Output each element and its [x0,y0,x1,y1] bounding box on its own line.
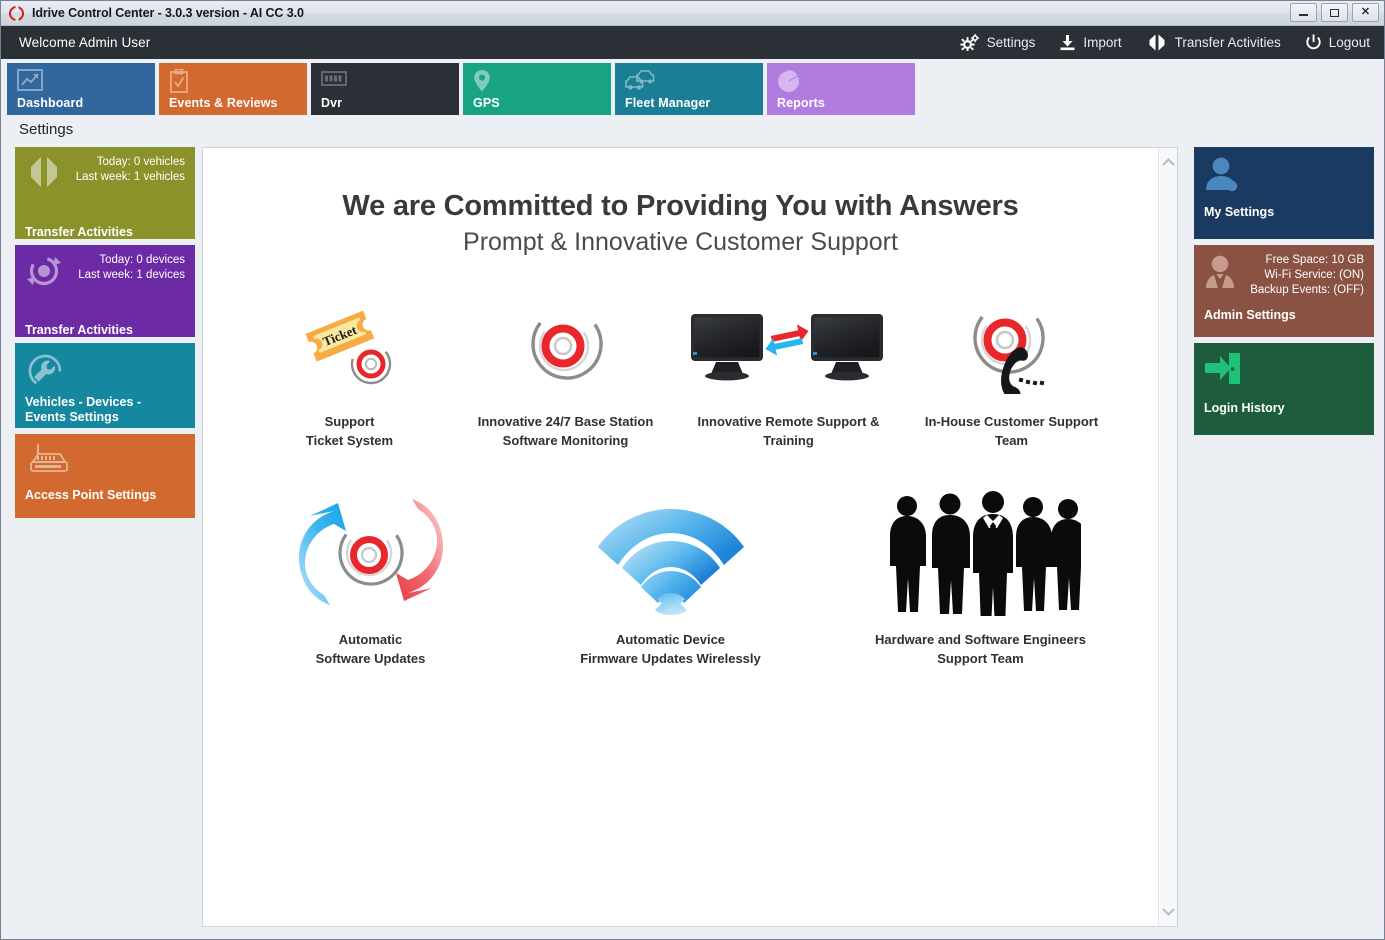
toolbar-import-button[interactable]: Import [1059,34,1121,51]
target-refresh-arrows-icon [276,488,466,618]
tile-label: My Settings [1204,205,1364,220]
tab-fleet-manager-label: Fleet Manager [625,96,710,110]
tab-fleet-manager[interactable]: Fleet Manager [615,63,763,115]
target-logo-icon [9,6,24,21]
map-pin-icon [473,69,491,98]
tile-label: Access Point Settings [25,488,185,503]
page-title: Settings [19,121,73,138]
tile-label: Login History [1204,401,1364,416]
top-toolbar: Welcome Admin User [1,26,1384,59]
tile-vehicles-devices-events-settings[interactable]: Vehicles - Devices - Events Settings [15,343,195,428]
subheadline: Prompt & Innovative Customer Support [203,226,1158,258]
pie-chart-icon [777,69,801,98]
tile-stats: Today: 0 devices Last week: 1 devices [25,253,185,283]
toolbar-transfer-activities-button[interactable]: Transfer Activities [1146,34,1281,51]
power-icon [1305,34,1322,51]
tab-reports-label: Reports [777,96,825,110]
close-button[interactable]: ✕ [1352,3,1379,22]
dvr-icon [321,69,347,94]
gears-icon [960,34,980,51]
tile-stats: Today: 0 vehicles Last week: 1 vehicles [25,155,185,185]
tile-stat-line: Last week: 1 vehicles [25,170,185,185]
tile-stats: Free Space: 10 GB Wi-Fi Service: (ON) Ba… [1204,253,1364,298]
tile-stat-line: Today: 0 devices [25,253,185,268]
tab-dvr[interactable]: Dvr [311,63,459,115]
tile-access-point-settings[interactable]: Access Point Settings [15,434,195,518]
feature-row-2: Automatic Software Updates [203,488,1158,668]
router-icon [25,442,71,483]
toolbar-transfer-activities-label: Transfer Activities [1175,35,1281,50]
tab-events-reviews[interactable]: Events & Reviews [159,63,307,115]
tile-stat-line: Backup Events: (OFF) [1204,283,1364,298]
toolbar-logout-button[interactable]: Logout [1305,34,1370,51]
wifi-signal-icon [596,488,746,618]
tile-admin-settings[interactable]: Free Space: 10 GB Wi-Fi Service: (ON) Ba… [1194,245,1374,337]
tile-stat-line: Last week: 1 devices [25,268,185,283]
feature-caption: In-House Customer Support Team [925,412,1098,450]
window-controls: ✕ [1290,3,1379,22]
feature-in-house-support-team[interactable]: In-House Customer Support Team [904,288,1120,450]
feature-hardware-software-engineers[interactable]: Hardware and Software Engineers Support … [821,488,1141,668]
tile-my-settings[interactable]: My Settings [1194,147,1374,239]
maximize-button[interactable] [1321,3,1348,22]
scroll-down-arrow-icon[interactable] [1159,904,1177,920]
feature-caption: Innovative 24/7 Base Station Software Mo… [478,412,654,450]
tile-transfer-activities-devices[interactable]: Today: 0 devices Last week: 1 devices Tr… [15,245,195,337]
tile-login-history[interactable]: Login History [1194,343,1374,435]
headline: We are Committed to Providing You with A… [203,188,1158,224]
tile-stat-line: Today: 0 vehicles [25,155,185,170]
transfer-arrows-icon [1146,34,1168,51]
welcome-message: Welcome Admin User [19,35,960,50]
feature-caption: Automatic Software Updates [316,630,426,668]
feature-base-station-monitoring[interactable]: Innovative 24/7 Base Station Software Mo… [458,288,674,450]
content-area: Today: 0 vehicles Last week: 1 vehicles … [1,147,1384,927]
scroll-up-arrow-icon[interactable] [1159,154,1177,170]
feature-caption: Hardware and Software Engineers Support … [875,630,1086,668]
feature-support-ticket-system[interactable]: Ticket Support Ticket System [242,288,458,450]
support-overview: We are Committed to Providing You with A… [203,148,1158,926]
main-vertical-scrollbar[interactable] [1158,148,1177,926]
tab-dvr-label: Dvr [321,96,342,110]
toolbar-actions: Settings Import [960,34,1370,51]
page-header: Settings [1,117,1384,147]
left-sidebar: Today: 0 vehicles Last week: 1 vehicles … [15,147,195,927]
download-icon [1059,34,1076,51]
support-ticket-icon: Ticket [297,288,402,400]
target-phone-icon [959,288,1064,400]
status-bar [1,931,1384,939]
tab-dashboard[interactable]: Dashboard [7,63,155,115]
feature-row-1: Ticket Support Ticket System [203,288,1158,450]
feature-caption: Support Ticket System [306,412,393,450]
login-exit-icon [1204,351,1242,392]
tab-gps-label: GPS [473,96,500,110]
window-title: Idrive Control Center - 3.0.3 version - … [32,6,304,20]
toolbar-settings-label: Settings [987,35,1036,50]
feature-caption: Innovative Remote Support & Training [697,412,879,450]
feature-automatic-software-updates[interactable]: Automatic Software Updates [221,488,521,668]
tab-gps[interactable]: GPS [463,63,611,115]
target-ring-icon [520,288,612,400]
main-content-panel: We are Committed to Providing You with A… [202,147,1178,927]
tile-stat-line: Wi-Fi Service: (ON) [1204,268,1364,283]
tile-label: Admin Settings [1204,308,1364,323]
toolbar-import-label: Import [1083,35,1121,50]
two-monitors-transfer-icon [689,288,889,400]
tile-label: Transfer Activities [25,225,185,239]
right-sidebar: My Settings Free Space: 10 GB Wi-Fi Serv… [1194,147,1374,927]
tile-label: Vehicles - Devices - Events Settings [25,395,185,425]
toolbar-settings-button[interactable]: Settings [960,34,1036,51]
tile-transfer-activities-vehicles[interactable]: Today: 0 vehicles Last week: 1 vehicles … [15,147,195,239]
feature-automatic-firmware-updates[interactable]: Automatic Device Firmware Updates Wirele… [521,488,821,668]
tab-reports[interactable]: Reports [767,63,915,115]
toolbar-logout-label: Logout [1329,35,1370,50]
team-silhouettes-icon [881,488,1081,618]
vehicles-icon [625,69,655,96]
feature-caption: Automatic Device Firmware Updates Wirele… [580,630,761,668]
title-bar: Idrive Control Center - 3.0.3 version - … [1,1,1384,26]
tab-dashboard-label: Dashboard [17,96,83,110]
tile-stat-line: Free Space: 10 GB [1204,253,1364,268]
feature-remote-support-training[interactable]: Innovative Remote Support & Training [674,288,904,450]
user-settings-icon [1204,155,1242,200]
chart-trend-icon [17,69,43,98]
clipboard-check-icon [169,69,189,98]
main-navigation-tabs: Dashboard Events & Reviews [1,59,1384,117]
minimize-button[interactable] [1290,3,1317,22]
wrench-icon [25,351,65,396]
tile-label: Transfer Activities [25,323,185,337]
application-window: Idrive Control Center - 3.0.3 version - … [0,0,1385,940]
tab-events-reviews-label: Events & Reviews [169,96,278,110]
